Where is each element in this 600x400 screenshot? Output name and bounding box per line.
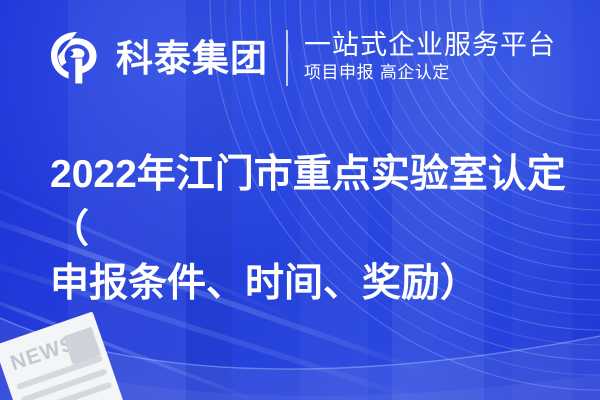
promo-banner: 科泰集团 一站式企业服务平台 项目申报 高企认定 2022年江门市重点实验室认定…	[0, 0, 600, 400]
page-title-line-1: 2022年江门市重点实验室认定（	[50, 148, 570, 257]
ketai-circle-logo-icon	[48, 29, 106, 87]
page-title: 2022年江门市重点实验室认定（ 申报条件、时间、奖励）	[50, 148, 570, 312]
slogan-main: 一站式企业服务平台	[304, 31, 556, 61]
slogan-sub: 项目申报 高企认定	[304, 63, 556, 84]
brand-header: 科泰集团 一站式企业服务平台 项目申报 高企认定	[48, 24, 556, 92]
header-divider	[286, 30, 288, 86]
slogan-block: 一站式企业服务平台 项目申报 高企认定	[304, 31, 556, 84]
brand-name: 科泰集团	[116, 40, 268, 77]
page-title-line-2: 申报条件、时间、奖励）	[50, 257, 570, 312]
